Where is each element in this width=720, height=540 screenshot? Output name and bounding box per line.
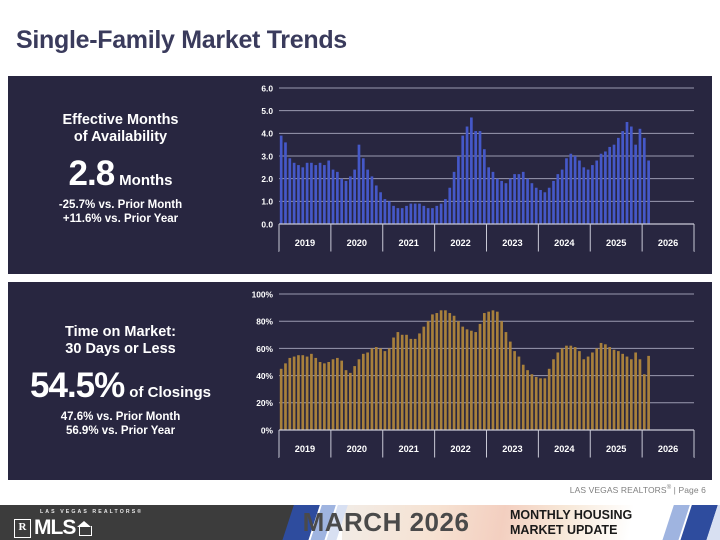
y-axis-tick-label: 40%: [256, 371, 273, 381]
y-axis-tick-label: 2.0: [261, 174, 273, 184]
kpi-value: 54.5%: [30, 368, 124, 404]
bar: [569, 154, 572, 224]
las-vegas-realtors-mls-logo: LAS VEGAS REALTORS® R MLS: [14, 507, 204, 537]
bar: [448, 188, 451, 224]
kpi-sub-prior-month: 47.6% vs. Prior Month: [8, 410, 233, 424]
bar: [604, 151, 607, 224]
kpi-unit: Months: [119, 172, 172, 189]
bar: [379, 192, 382, 224]
x-axis-year-label: 2024: [554, 238, 575, 248]
chart-x-axis-years: 20192020202120222023202420252026: [279, 224, 694, 252]
bar: [647, 161, 650, 224]
kpi-sub-prior-year: +11.6% vs. Prior Year: [8, 212, 233, 226]
bar: [565, 158, 568, 224]
bar: [457, 321, 460, 430]
bar: [384, 199, 387, 224]
bar: [310, 163, 313, 224]
y-axis-tick-label: 100%: [252, 289, 274, 299]
bar: [492, 172, 495, 224]
bar: [630, 127, 633, 224]
bar: [371, 348, 374, 430]
panel-time-on-market: Time on Market: 30 Days or Less 54.5% of…: [8, 282, 712, 480]
bar: [474, 131, 477, 224]
bar: [288, 158, 291, 224]
x-axis-year-label: 2019: [295, 238, 315, 248]
x-axis-year-label: 2019: [295, 444, 315, 454]
bar: [301, 355, 304, 430]
bar: [621, 131, 624, 224]
bar: [375, 347, 378, 430]
x-axis-year-label: 2022: [450, 238, 470, 248]
bar: [470, 117, 473, 224]
bar: [595, 348, 598, 430]
bar: [466, 127, 469, 224]
kpi-title: Effective Months of Availability: [8, 112, 233, 146]
footer-page-number: | Page 6: [671, 485, 706, 495]
y-axis-tick-label: 4.0: [261, 129, 273, 139]
bar: [457, 156, 460, 224]
bar: [582, 167, 585, 224]
bar: [470, 331, 473, 430]
bar: [600, 154, 603, 224]
logo-tagline: LAS VEGAS REALTORS®: [40, 509, 204, 515]
kpi-title-line2: of Availability: [8, 129, 233, 146]
kpi-title: Time on Market: 30 Days or Less: [8, 324, 233, 358]
bar: [595, 161, 598, 224]
house-body: [79, 526, 92, 536]
bar: [479, 131, 482, 224]
footer-update-label: MONTHLY HOUSING MARKET UPDATE: [510, 508, 686, 538]
bar: [500, 181, 503, 224]
bar: [405, 206, 408, 224]
kpi-sub-prior-month: -25.7% vs. Prior Month: [8, 198, 233, 212]
footer-month-label: MARCH 2026: [268, 507, 504, 538]
bar: [280, 136, 283, 224]
y-axis-tick-label: 0.0: [261, 219, 273, 229]
bar: [440, 310, 443, 430]
bar: [418, 204, 421, 224]
bar: [461, 327, 464, 430]
bar: [513, 351, 516, 430]
bar: [340, 361, 343, 430]
bar: [548, 188, 551, 224]
bar: [639, 129, 642, 224]
bar: [401, 208, 404, 224]
bar: [621, 354, 624, 430]
bar: [647, 356, 650, 430]
kpi-title-line2: 30 Days or Less: [8, 341, 233, 358]
kpi-value-row: 2.8 Months: [8, 156, 233, 192]
bar: [569, 346, 572, 430]
bar: [578, 351, 581, 430]
bar: [535, 377, 538, 430]
kpi-value-row: 54.5% of Closings: [8, 368, 233, 404]
bar: [319, 163, 322, 224]
bar: [518, 357, 521, 430]
slide: Single-Family Market Trends Effective Mo…: [0, 0, 720, 540]
bar: [513, 174, 516, 224]
panel-effective-months: Effective Months of Availability 2.8 Mon…: [8, 76, 712, 274]
x-axis-year-label: 2025: [606, 238, 626, 248]
bar: [531, 183, 534, 224]
realtor-r-block: R: [14, 519, 31, 538]
bar: [327, 362, 330, 430]
bar: [353, 366, 356, 430]
x-axis-year-label: 2022: [450, 444, 470, 454]
bar: [448, 313, 451, 430]
bar: [306, 163, 309, 224]
bar: [453, 172, 456, 224]
bar: [561, 348, 564, 430]
bar: [500, 321, 503, 430]
x-axis-year-label: 2025: [606, 444, 626, 454]
bar: [587, 357, 590, 430]
bar: [535, 188, 538, 224]
bar: [336, 358, 339, 430]
bar: [522, 172, 525, 224]
chart-svg-time-on-market: 201920202021202220232024202520260%20%40%…: [233, 282, 712, 480]
bar: [556, 174, 559, 224]
bar: [509, 342, 512, 430]
bar: [578, 161, 581, 224]
bar: [414, 204, 417, 224]
bar: [422, 206, 425, 224]
bar: [548, 369, 551, 430]
bar: [366, 352, 369, 430]
chart-bars: [280, 310, 650, 430]
bar: [362, 158, 365, 224]
chart-effective-months: 201920202021202220232024202520260.01.02.…: [233, 76, 712, 274]
y-axis-tick-label: 3.0: [261, 151, 273, 161]
y-axis-tick-label: 5.0: [261, 106, 273, 116]
bar: [626, 122, 629, 224]
bar: [392, 206, 395, 224]
bar: [345, 370, 348, 430]
kpi-block-effective-months: Effective Months of Availability 2.8 Mon…: [8, 76, 233, 274]
kpi-title-line1: Time on Market:: [8, 324, 233, 341]
bar: [410, 339, 413, 430]
bar: [483, 313, 486, 430]
chart-y-axis-labels: 0%20%40%60%80%100%: [252, 289, 274, 435]
bar: [379, 348, 382, 430]
bar: [388, 348, 391, 430]
bar: [574, 347, 577, 430]
page-title: Single-Family Market Trends: [16, 26, 347, 55]
bar: [314, 358, 317, 430]
bar: [349, 373, 352, 430]
bar: [461, 136, 464, 224]
chart-svg-effective-months: 201920202021202220232024202520260.01.02.…: [233, 76, 712, 274]
bar: [539, 378, 542, 430]
bar: [297, 165, 300, 224]
bar: [414, 339, 417, 430]
bar: [505, 183, 508, 224]
bar: [293, 357, 296, 430]
bar: [371, 176, 374, 224]
x-axis-year-label: 2024: [554, 444, 575, 454]
y-axis-tick-label: 60%: [256, 344, 273, 354]
chart-x-axis-years: 20192020202120222023202420252026: [279, 430, 694, 458]
bar: [418, 333, 421, 430]
bar: [617, 138, 620, 224]
bar: [544, 192, 547, 224]
bar: [483, 149, 486, 224]
bar: [314, 165, 317, 224]
bar: [332, 359, 335, 430]
house-icon: [76, 520, 93, 537]
bar: [613, 145, 616, 224]
bar: [340, 179, 343, 224]
bar: [643, 374, 646, 430]
bar: [435, 313, 438, 430]
bar: [392, 338, 395, 430]
bar: [526, 370, 529, 430]
chart-y-axis-labels: 0.01.02.03.04.05.06.0: [261, 83, 273, 229]
footer-attribution: LAS VEGAS REALTORS® | Page 6: [570, 485, 706, 495]
bar: [444, 199, 447, 224]
bar: [634, 352, 637, 430]
bar: [453, 316, 456, 430]
bar: [634, 145, 637, 224]
bar: [492, 310, 495, 430]
bar: [604, 344, 607, 430]
logo-mls-text: MLS: [34, 516, 75, 540]
bar: [323, 165, 326, 224]
kpi-title-line1: Effective Months: [8, 112, 233, 129]
y-axis-tick-label: 1.0: [261, 197, 273, 207]
bar: [297, 355, 300, 430]
bar: [466, 329, 469, 430]
bar: [427, 208, 430, 224]
bar: [336, 172, 339, 224]
bar: [362, 354, 365, 430]
bar: [613, 350, 616, 430]
bar: [358, 145, 361, 224]
bar: [626, 357, 629, 430]
x-axis-year-label: 2026: [658, 444, 678, 454]
bar: [587, 170, 590, 224]
bar: [310, 354, 313, 430]
bar: [591, 165, 594, 224]
bar: [643, 138, 646, 224]
bar: [332, 170, 335, 224]
bar: [531, 374, 534, 430]
bar: [474, 332, 477, 430]
bar: [591, 352, 594, 430]
x-axis-year-label: 2020: [347, 444, 367, 454]
bar: [405, 335, 408, 430]
bar: [388, 201, 391, 224]
bar: [431, 314, 434, 430]
bar: [565, 346, 568, 430]
bar: [284, 363, 287, 430]
bar: [345, 181, 348, 224]
y-axis-tick-label: 6.0: [261, 83, 273, 93]
bar: [435, 206, 438, 224]
bar: [509, 179, 512, 224]
bar: [556, 352, 559, 430]
x-axis-year-label: 2023: [502, 238, 522, 248]
bar: [544, 378, 547, 430]
footer-update-line1: MONTHLY HOUSING: [510, 508, 686, 523]
bar: [384, 351, 387, 430]
bar: [608, 147, 611, 224]
bar: [487, 312, 490, 430]
bar: [327, 161, 330, 224]
bar: [323, 363, 326, 430]
bar: [582, 359, 585, 430]
bar: [427, 321, 430, 430]
bar: [522, 365, 525, 430]
footer-attribution-name: LAS VEGAS REALTORS: [570, 485, 667, 495]
x-axis-year-label: 2021: [398, 444, 418, 454]
bar: [518, 174, 521, 224]
bar: [358, 359, 361, 430]
bar: [353, 170, 356, 224]
bar: [630, 359, 633, 430]
bar: [431, 208, 434, 224]
bar: [539, 190, 542, 224]
y-axis-tick-label: 80%: [256, 317, 273, 327]
x-axis-year-label: 2020: [347, 238, 367, 248]
x-axis-year-label: 2023: [502, 444, 522, 454]
bar: [293, 163, 296, 224]
bar: [288, 358, 291, 430]
bar: [284, 142, 287, 224]
x-axis-year-label: 2026: [658, 238, 678, 248]
bar: [280, 369, 283, 430]
bar: [552, 181, 555, 224]
bar: [496, 179, 499, 224]
bar: [479, 324, 482, 430]
bar: [319, 362, 322, 430]
bar: [552, 359, 555, 430]
logo-mark: R MLS: [14, 516, 204, 540]
kpi-unit: of Closings: [129, 384, 211, 401]
kpi-subtext: 47.6% vs. Prior Month 56.9% vs. Prior Ye…: [8, 410, 233, 438]
footer-update-line2: MARKET UPDATE: [510, 523, 686, 538]
bar: [487, 167, 490, 224]
bar: [639, 359, 642, 430]
bar: [366, 170, 369, 224]
bar: [397, 332, 400, 430]
bar: [306, 357, 309, 430]
bar: [440, 204, 443, 224]
bar: [401, 335, 404, 430]
y-axis-tick-label: 0%: [261, 425, 274, 435]
kpi-sub-prior-year: 56.9% vs. Prior Year: [8, 424, 233, 438]
bar: [349, 176, 352, 224]
kpi-block-time-on-market: Time on Market: 30 Days or Less 54.5% of…: [8, 282, 233, 480]
bar: [574, 156, 577, 224]
x-axis-year-label: 2021: [398, 238, 418, 248]
chart-time-on-market: 201920202021202220232024202520260%20%40%…: [233, 282, 712, 480]
bar: [375, 185, 378, 224]
bar: [617, 351, 620, 430]
bar: [410, 204, 413, 224]
realtor-r-icon: R: [14, 519, 31, 538]
bar: [600, 343, 603, 430]
bar: [444, 310, 447, 430]
bar: [397, 208, 400, 224]
y-axis-tick-label: 20%: [256, 398, 273, 408]
bar: [505, 332, 508, 430]
bar: [496, 312, 499, 430]
bar: [422, 327, 425, 430]
kpi-value: 2.8: [69, 156, 115, 192]
bar: [301, 167, 304, 224]
bar: [561, 170, 564, 224]
bar: [608, 347, 611, 430]
bar: [526, 179, 529, 224]
kpi-subtext: -25.7% vs. Prior Month +11.6% vs. Prior …: [8, 198, 233, 226]
